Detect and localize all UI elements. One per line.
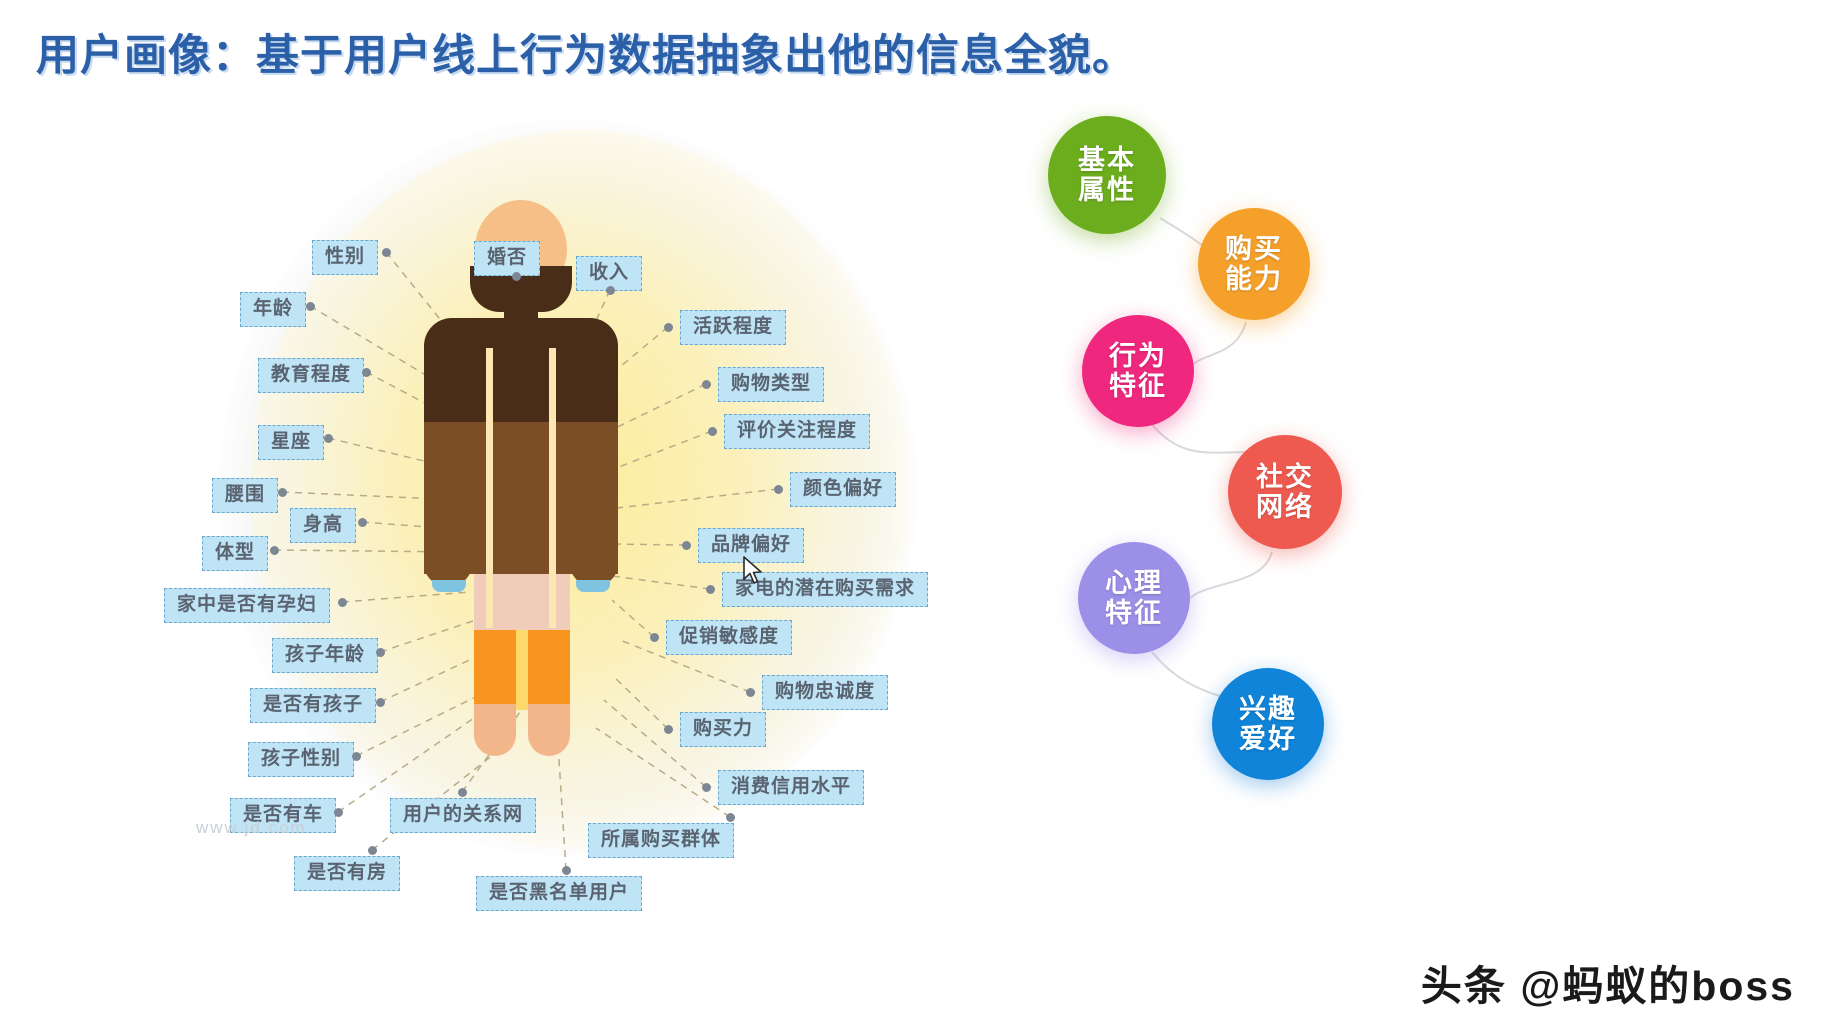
connector-dot xyxy=(352,752,361,761)
connector-dot xyxy=(306,302,315,311)
connector-dot xyxy=(358,518,367,527)
connector-dot xyxy=(708,427,717,436)
category-cluster: 基本属性购买能力行为特征社交网络心理特征兴趣爱好 xyxy=(1000,100,1831,980)
figure-stripe-right xyxy=(549,348,556,628)
attribute-tag[interactable]: 购买力 xyxy=(680,712,766,747)
category-label-line2: 特征 xyxy=(1105,598,1163,628)
connector-dot xyxy=(376,648,385,657)
connector-dot xyxy=(458,788,467,797)
figure-leg-gap xyxy=(516,630,528,710)
connector-dot xyxy=(702,783,711,792)
figure-leg-right xyxy=(528,630,570,708)
category-circle[interactable]: 行为特征 xyxy=(1082,315,1194,427)
attribute-tag[interactable]: 孩子年龄 xyxy=(272,638,378,673)
attribute-tag[interactable]: 婚否 xyxy=(474,241,540,276)
connector-dot xyxy=(746,688,755,697)
category-label-line1: 兴趣 xyxy=(1239,694,1297,724)
persona-illustration: 性别年龄教育程度星座腰围身高体型家中是否有孕妇孩子年龄是否有孩子孩子性别是否有车… xyxy=(0,100,1010,980)
attribute-tag[interactable]: 是否黑名单用户 xyxy=(476,876,642,911)
attribute-tag[interactable]: 颜色偏好 xyxy=(790,472,896,507)
attribute-tag[interactable]: 身高 xyxy=(290,508,356,543)
connector-dot xyxy=(338,598,347,607)
attribute-tag[interactable]: 促销敏感度 xyxy=(666,620,792,655)
connector-dot xyxy=(606,286,615,295)
connector-dot xyxy=(324,434,333,443)
figure-leg-left xyxy=(474,630,516,708)
connector-dot xyxy=(512,272,521,281)
figure-hand-left xyxy=(432,580,466,592)
figure-foot-right xyxy=(528,704,570,756)
figure-stripe-left xyxy=(486,348,493,628)
category-connector-lines xyxy=(1000,100,1831,980)
connector-dot xyxy=(774,485,783,494)
figure-foot-left xyxy=(474,704,516,756)
connector-dot xyxy=(682,541,691,550)
connector-dot xyxy=(270,546,279,555)
category-label-line1: 购买 xyxy=(1225,234,1283,264)
attribute-tag[interactable]: 购物类型 xyxy=(718,367,824,402)
mouse-pointer-icon xyxy=(742,556,764,586)
page-title: 用户画像：基于用户线上行为数据抽象出他的信息全貌。 xyxy=(36,21,1136,83)
figure-torso-upper xyxy=(424,318,618,430)
connector-dot xyxy=(726,813,735,822)
connector-dot xyxy=(664,725,673,734)
connector-dot xyxy=(376,698,385,707)
connector-dot xyxy=(664,323,673,332)
attribute-tag[interactable]: 是否有房 xyxy=(294,856,400,891)
attribute-tag[interactable]: 体型 xyxy=(202,536,268,571)
attribute-tag[interactable]: 孩子性别 xyxy=(248,742,354,777)
attribute-tag[interactable]: 用户的关系网 xyxy=(390,798,536,833)
connector-dot xyxy=(706,585,715,594)
brand-watermark: 头条 @蚂蚁的boss xyxy=(1421,952,1795,1012)
attribute-tag[interactable]: 购物忠诚度 xyxy=(762,675,888,710)
connector-dot xyxy=(362,368,371,377)
attribute-tag[interactable]: 教育程度 xyxy=(258,358,364,393)
connector-dot xyxy=(368,846,377,855)
attribute-tag[interactable]: 活跃程度 xyxy=(680,310,786,345)
category-label-line2: 网络 xyxy=(1256,492,1314,522)
connector-dot xyxy=(382,248,391,257)
category-label-line2: 能力 xyxy=(1225,264,1283,294)
attribute-tag[interactable]: 是否有孩子 xyxy=(250,688,376,723)
attribute-tag[interactable]: 家中是否有孕妇 xyxy=(164,588,330,623)
attribute-tag[interactable]: 所属购买群体 xyxy=(588,823,734,858)
source-watermark: www.jd.com xyxy=(196,818,307,838)
attribute-tag[interactable]: 性别 xyxy=(312,240,378,275)
category-label-line2: 特征 xyxy=(1109,371,1167,401)
title-bar: 用户画像：基于用户线上行为数据抽象出他的信息全貌。 xyxy=(0,0,1831,104)
connector-dot xyxy=(334,808,343,817)
figure-arm-left xyxy=(424,422,472,586)
connector-dot xyxy=(562,866,571,875)
attribute-tag[interactable]: 星座 xyxy=(258,425,324,460)
category-circle[interactable]: 社交网络 xyxy=(1228,435,1342,549)
connector-dot xyxy=(650,633,659,642)
attribute-tag[interactable]: 评价关注程度 xyxy=(724,414,870,449)
attribute-tag[interactable]: 年龄 xyxy=(240,292,306,327)
category-label-line1: 基本 xyxy=(1078,145,1136,175)
connector-dot xyxy=(278,488,287,497)
category-circle[interactable]: 购买能力 xyxy=(1198,208,1310,320)
category-label-line1: 社交 xyxy=(1256,462,1314,492)
category-label-line2: 爱好 xyxy=(1239,724,1297,754)
attribute-tag[interactable]: 腰围 xyxy=(212,478,278,513)
category-circle[interactable]: 兴趣爱好 xyxy=(1212,668,1324,780)
category-circle[interactable]: 基本属性 xyxy=(1048,116,1166,234)
figure-hand-right xyxy=(576,580,610,592)
category-label-line1: 心理 xyxy=(1105,568,1163,598)
connector-dot xyxy=(702,380,711,389)
category-label-line1: 行为 xyxy=(1109,341,1167,371)
category-label-line2: 属性 xyxy=(1078,175,1136,205)
category-circle[interactable]: 心理特征 xyxy=(1078,542,1190,654)
attribute-tag[interactable]: 消费信用水平 xyxy=(718,770,864,805)
figure-arm-right xyxy=(570,422,618,586)
